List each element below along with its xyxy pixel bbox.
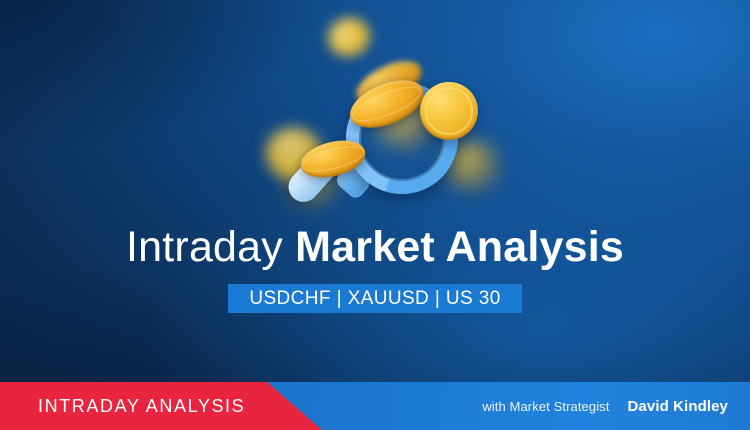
intraday-analysis-banner: Intraday Market Analysis USDCHF | XAUUSD…	[0, 0, 750, 430]
gold-coin-icon-blurred-top	[323, 12, 375, 61]
page-title-bold: Market Analysis	[295, 223, 624, 271]
instrument-pairs-badge: USDCHF | XAUUSD | US 30	[228, 284, 522, 313]
instrument-pairs-label: USDCHF | XAUUSD | US 30	[249, 289, 500, 308]
footer-presenter-name: David Kindley	[628, 398, 729, 415]
gold-coin-icon-right	[420, 82, 478, 140]
footer-category-label: INTRADAY ANALYSIS	[38, 382, 245, 430]
coins-magnifier-illustration	[268, 0, 508, 210]
page-title: Intraday Market Analysis	[0, 222, 750, 272]
page-title-light: Intraday	[126, 223, 295, 271]
footer-presenter-group: with Market Strategist David Kindley	[482, 382, 728, 430]
footer-bar: INTRADAY ANALYSIS with Market Strategist…	[0, 382, 750, 430]
coin-rim	[425, 87, 473, 135]
footer-with-label: with Market Strategist	[482, 399, 609, 414]
